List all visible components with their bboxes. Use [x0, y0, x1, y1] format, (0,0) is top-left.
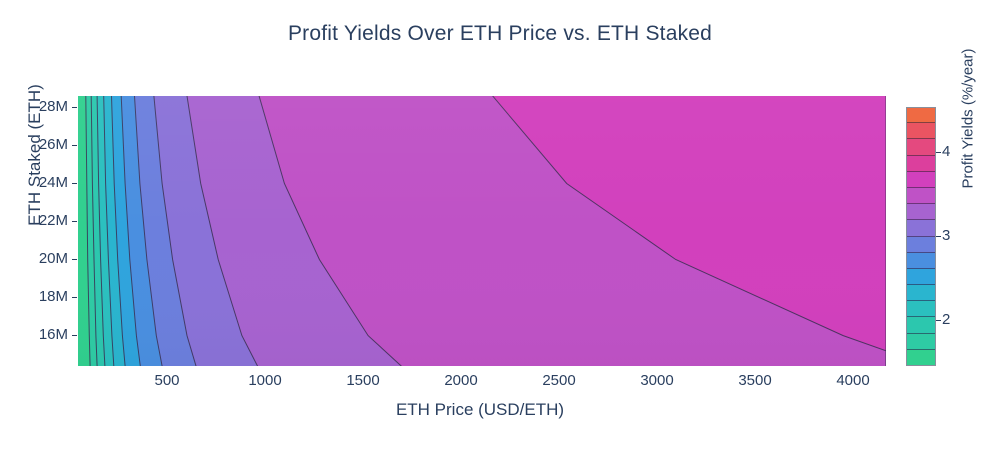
y-tick-label: 16M — [22, 326, 68, 343]
colorbar-band — [906, 123, 936, 139]
y-tick-label: 26M — [22, 136, 68, 153]
y-tick-label: 24M — [22, 174, 68, 191]
colorbar-band — [906, 285, 936, 301]
colorbar-band — [906, 334, 936, 350]
x-tick-label: 1500 — [328, 372, 398, 389]
x-axis-title: ETH Price (USD/ETH) — [0, 400, 960, 420]
colorbar-band — [906, 317, 936, 333]
y-tick-mark — [72, 259, 77, 260]
colorbar-band — [906, 204, 936, 220]
colorbar[interactable] — [906, 107, 936, 366]
x-tick-label: 1000 — [230, 372, 300, 389]
colorbar-tick-mark — [936, 236, 941, 237]
y-tick-mark — [72, 145, 77, 146]
contour-surface — [78, 96, 886, 366]
colorbar-band — [906, 237, 936, 253]
colorbar-band — [906, 139, 936, 155]
plot-area[interactable] — [78, 96, 886, 366]
y-tick-mark — [72, 297, 77, 298]
y-tick-mark — [72, 183, 77, 184]
x-tick-label: 4000 — [818, 372, 888, 389]
x-tick-label: 3000 — [622, 372, 692, 389]
x-tick-label: 500 — [132, 372, 202, 389]
x-tick-label: 3500 — [720, 372, 790, 389]
x-tick-label: 2500 — [524, 372, 594, 389]
contour-chart: Profit Yields Over ETH Price vs. ETH Sta… — [0, 0, 1000, 450]
y-tick-mark — [72, 107, 77, 108]
colorbar-band — [906, 188, 936, 204]
colorbar-tick-mark — [936, 152, 941, 153]
colorbar-tick-label: 2 — [942, 311, 972, 328]
colorbar-title: Profit Yields (%/year) — [960, 0, 977, 249]
colorbar-band — [906, 220, 936, 236]
x-tick-label: 2000 — [426, 372, 496, 389]
colorbar-band — [906, 172, 936, 188]
page-title: Profit Yields Over ETH Price vs. ETH Sta… — [0, 22, 1000, 46]
y-tick-label: 20M — [22, 250, 68, 267]
colorbar-tick-mark — [936, 320, 941, 321]
y-axis-title: ETH Staked (ETH) — [25, 25, 45, 285]
y-tick-mark — [72, 221, 77, 222]
y-tick-label: 28M — [22, 98, 68, 115]
colorbar-band — [906, 350, 936, 366]
colorbar-band — [906, 156, 936, 172]
colorbar-band — [906, 301, 936, 317]
y-tick-mark — [72, 335, 77, 336]
colorbar-band — [906, 269, 936, 285]
colorbar-band — [906, 107, 936, 123]
y-tick-label: 18M — [22, 288, 68, 305]
colorbar-band — [906, 253, 936, 269]
y-tick-label: 22M — [22, 212, 68, 229]
